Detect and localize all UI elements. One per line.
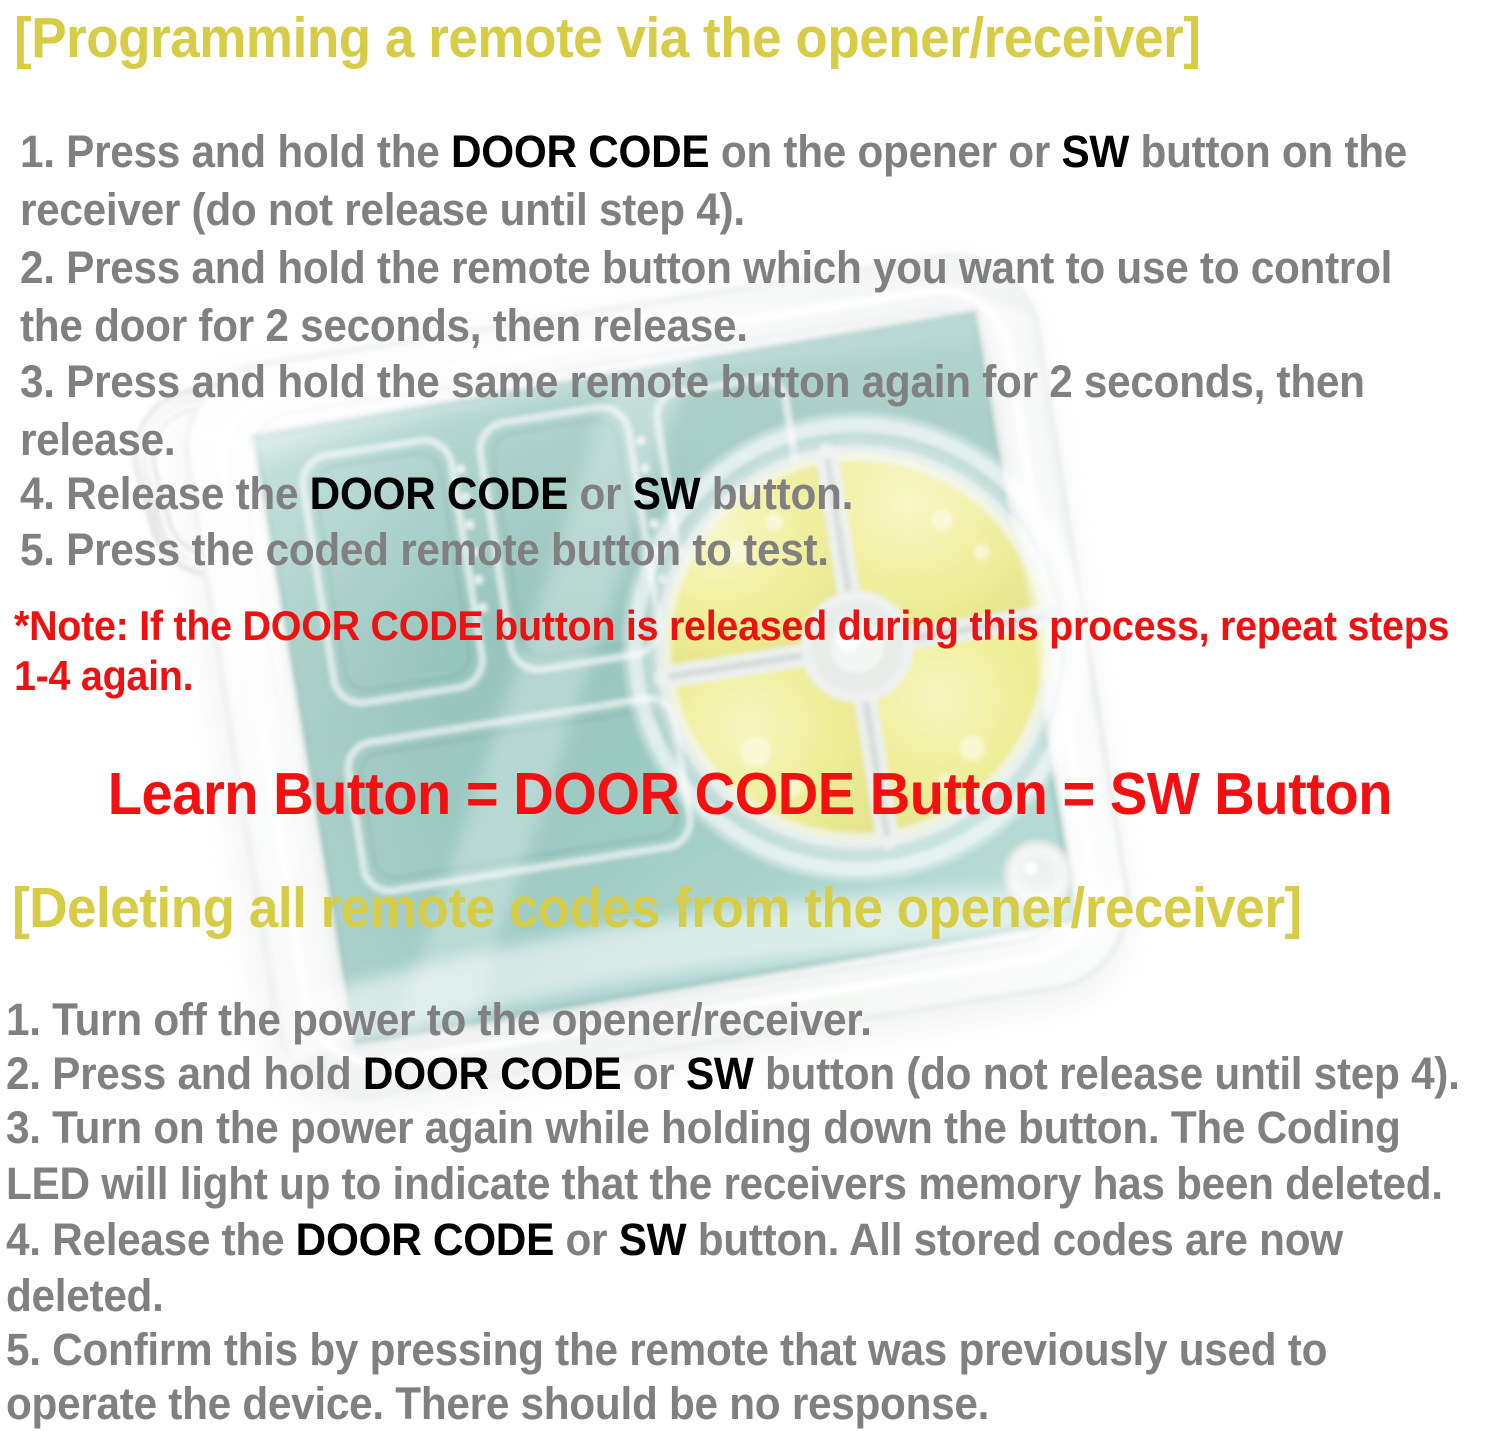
sw-emphasis: SW bbox=[686, 1048, 754, 1099]
deleting-step-4-line-2: deleted. bbox=[6, 1268, 164, 1324]
deleting-step-5-line-1: 5. Confirm this by pressing the remote t… bbox=[6, 1322, 1327, 1378]
sw-emphasis: SW bbox=[619, 1214, 687, 1265]
step-text: or bbox=[621, 1048, 686, 1099]
deleting-step-3-line-2: LED will light up to indicate that the r… bbox=[6, 1156, 1443, 1212]
sw-emphasis: SW bbox=[633, 468, 701, 519]
programming-note-line-1: *Note: If the DOOR CODE button is releas… bbox=[14, 600, 1449, 652]
step-text: 2. Press and hold bbox=[6, 1048, 363, 1099]
step-text: or bbox=[568, 468, 633, 519]
step-text: on the opener or bbox=[709, 126, 1061, 177]
programming-step-4-line-1: 4. Release the DOOR CODE or SW button. bbox=[20, 466, 853, 522]
sw-emphasis: SW bbox=[1062, 126, 1130, 177]
step-text: button. bbox=[700, 468, 853, 519]
programming-step-3-line-2: release. bbox=[20, 412, 175, 468]
programming-step-1-line-1: 1. Press and hold the DOOR CODE on the o… bbox=[20, 124, 1407, 180]
step-text: button on the bbox=[1129, 126, 1407, 177]
instruction-graphic: [Programming a remote via the opener/rec… bbox=[0, 0, 1500, 1431]
programming-step-5-line-1: 5. Press the coded remote button to test… bbox=[20, 522, 829, 578]
programming-step-1-line-2: receiver (do not release until step 4). bbox=[20, 182, 745, 238]
programming-section-title: [Programming a remote via the opener/rec… bbox=[14, 8, 1200, 68]
deleting-step-2-line-1: 2. Press and hold DOOR CODE or SW button… bbox=[6, 1046, 1460, 1102]
step-text: 1. Press and hold the bbox=[20, 126, 451, 177]
step-text: button (do not release until step 4). bbox=[754, 1048, 1460, 1099]
learn-button-equivalence: Learn Button = DOOR CODE Button = SW But… bbox=[0, 762, 1500, 826]
door-code-emphasis: DOOR CODE bbox=[310, 468, 568, 519]
programming-step-2-line-2: the door for 2 seconds, then release. bbox=[20, 298, 748, 354]
equivalence-text: Learn Button = DOOR CODE Button = SW But… bbox=[108, 762, 1392, 826]
programming-step-3-line-1: 3. Press and hold the same remote button… bbox=[20, 354, 1365, 410]
deleting-step-4-line-1: 4. Release the DOOR CODE or SW button. A… bbox=[6, 1212, 1343, 1268]
programming-step-2-line-1: 2. Press and hold the remote button whic… bbox=[20, 240, 1392, 296]
step-text: button. All stored codes are now bbox=[686, 1214, 1343, 1265]
door-code-emphasis: DOOR CODE bbox=[363, 1048, 621, 1099]
programming-note-line-2: 1-4 again. bbox=[14, 650, 193, 702]
deleting-step-5-line-2: operate the device. There should be no r… bbox=[6, 1376, 989, 1431]
door-code-emphasis: DOOR CODE bbox=[451, 126, 709, 177]
door-code-emphasis: DOOR CODE bbox=[296, 1214, 554, 1265]
deleting-step-3-line-1: 3. Turn on the power again while holding… bbox=[6, 1100, 1401, 1156]
step-text: or bbox=[554, 1214, 619, 1265]
deleting-step-1-line-1: 1. Turn off the power to the opener/rece… bbox=[6, 992, 872, 1048]
step-text: 4. Release the bbox=[6, 1214, 296, 1265]
step-text: 4. Release the bbox=[20, 468, 310, 519]
deleting-section-title: [Deleting all remote codes from the open… bbox=[12, 878, 1302, 938]
